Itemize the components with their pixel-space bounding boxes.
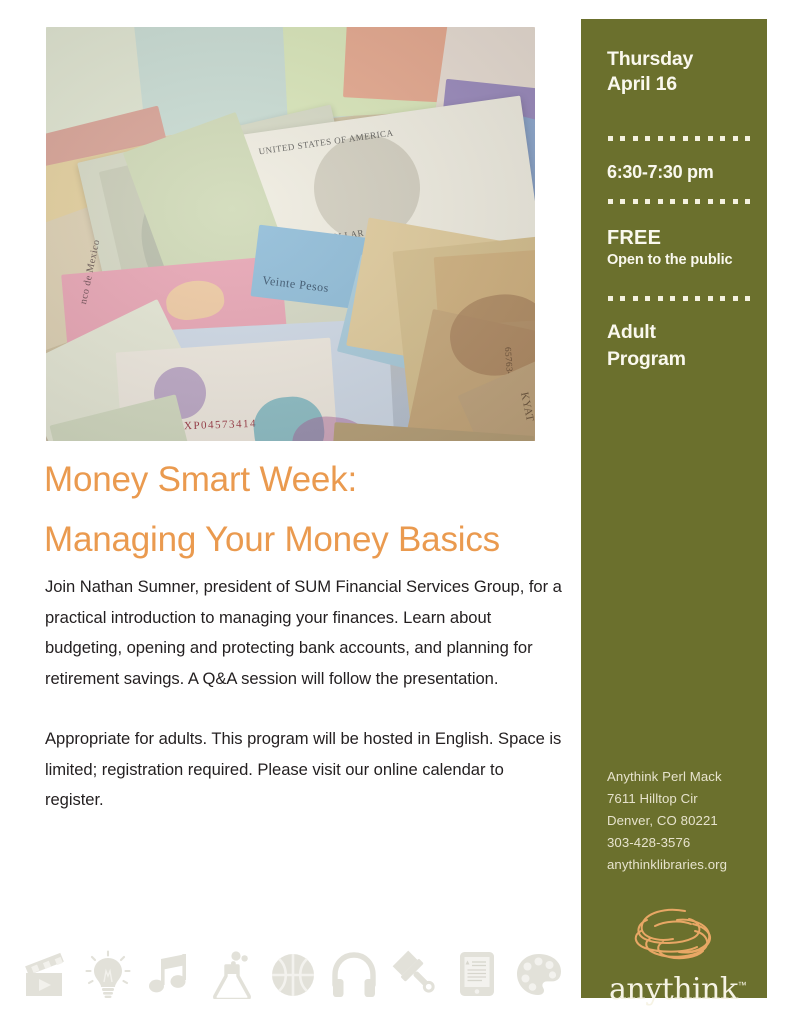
branch-address: Anythink Perl Mack 7611 Hilltop Cir Denv… <box>607 766 727 876</box>
cost-sublabel: Open to the public <box>607 250 732 270</box>
branch-name: Anythink Perl Mack <box>607 766 727 788</box>
dotted-divider-3 <box>608 296 750 301</box>
main-column: UNITED STATES OF AMERICA ONE DOLLAR 62P … <box>0 0 581 1024</box>
cost-label: FREE <box>607 226 732 250</box>
sidebar-inner: Thursday April 16 6:30-7:30 pm FREE Open… <box>607 19 757 998</box>
dotted-divider-2 <box>608 199 750 204</box>
banknotes-photo: UNITED STATES OF AMERICA ONE DOLLAR 62P … <box>46 27 535 441</box>
event-date: Thursday April 16 <box>607 47 693 97</box>
basketball-icon <box>267 945 319 1003</box>
category-icon-strip <box>20 934 565 1014</box>
title-line-2: Managing Your Money Basics <box>44 510 564 570</box>
event-audience: Adult Program <box>607 319 686 373</box>
event-time: 6:30-7:30 pm <box>607 162 713 183</box>
branch-website[interactable]: anythinklibraries.org <box>607 854 727 876</box>
artist-palette-icon <box>513 945 565 1003</box>
poster-root: UNITED STATES OF AMERICA ONE DOLLAR 62P … <box>0 0 791 1024</box>
scribble-logo-icon <box>607 904 757 966</box>
description-block: Join Nathan Sumner, president of SUM Fin… <box>45 572 565 816</box>
paintbrush-icon <box>390 945 442 1003</box>
headphones-icon <box>328 945 380 1003</box>
page-title: Money Smart Week: Managing Your Money Ba… <box>44 450 564 570</box>
photo-canvas: UNITED STATES OF AMERICA ONE DOLLAR 62P … <box>46 27 535 441</box>
wordmark-text: anythink <box>609 972 738 1007</box>
film-clapperboard-icon <box>20 945 72 1003</box>
tablet-reader-icon <box>451 945 503 1003</box>
anythink-wordmark: anythink™ <box>607 968 757 1007</box>
music-notes-icon <box>143 945 195 1003</box>
branch-city: Denver, CO 80221 <box>607 810 727 832</box>
audience-line-2: Program <box>607 346 686 373</box>
science-flask-icon <box>205 945 257 1003</box>
title-line-1: Money Smart Week: <box>44 450 564 510</box>
dotted-divider-1 <box>608 136 750 141</box>
branch-phone: 303-428-3576 <box>607 832 727 854</box>
event-day: Thursday <box>607 47 693 72</box>
event-date-value: April 16 <box>607 72 693 97</box>
description-paragraph-2: Appropriate for adults. This program wil… <box>45 724 565 816</box>
audience-line-1: Adult <box>607 319 686 346</box>
anythink-logo: anythink™ <box>607 904 757 1007</box>
description-paragraph-1: Join Nathan Sumner, president of SUM Fin… <box>45 572 565 694</box>
event-details-sidebar: Thursday April 16 6:30-7:30 pm FREE Open… <box>581 19 767 998</box>
branch-street: 7611 Hilltop Cir <box>607 788 727 810</box>
trademark-symbol: ™ <box>738 980 747 990</box>
event-cost: FREE Open to the public <box>607 226 732 270</box>
lightbulb-icon <box>82 945 134 1003</box>
